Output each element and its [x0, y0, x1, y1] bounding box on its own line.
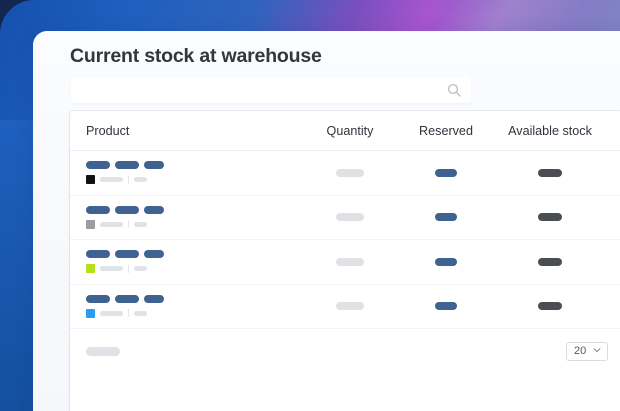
reserved-cell	[398, 169, 494, 177]
skeleton-pill	[435, 302, 457, 310]
skeleton-bar	[134, 266, 147, 271]
skeleton-pill	[115, 206, 139, 214]
skeleton-pill	[538, 169, 562, 177]
table-header-row: Product Quantity Reserved Available stoc…	[70, 111, 620, 151]
column-header-reserved[interactable]: Reserved	[398, 124, 494, 138]
page-size-select[interactable]: 20	[566, 342, 608, 361]
product-meta-skeleton	[86, 220, 302, 229]
skeleton-bar	[100, 311, 123, 316]
screenshot-root: Current stock at warehouse Product Quant…	[0, 0, 620, 411]
skeleton-pill	[336, 169, 364, 177]
column-header-product[interactable]: Product	[86, 124, 302, 138]
skeleton-pill	[86, 206, 110, 214]
skeleton-bar	[134, 311, 147, 316]
skeleton-pill	[86, 161, 110, 169]
skeleton-pill	[86, 250, 110, 258]
skeleton-bar	[134, 222, 147, 227]
skeleton-pill	[435, 258, 457, 266]
table-footer: 20	[70, 329, 620, 373]
chevron-down-icon[interactable]	[592, 342, 602, 360]
skeleton-bar	[100, 222, 123, 227]
skeleton-bar	[134, 177, 147, 182]
skeleton-pill	[115, 295, 139, 303]
skeleton-pill	[336, 302, 364, 310]
available-stock-cell	[494, 213, 606, 221]
meta-divider	[128, 176, 129, 184]
table-row[interactable]	[70, 196, 620, 241]
product-meta-skeleton	[86, 264, 302, 273]
column-header-available-stock[interactable]: Available stock	[494, 124, 606, 138]
quantity-cell	[302, 213, 398, 221]
skeleton-pill	[435, 169, 457, 177]
available-stock-cell	[494, 169, 606, 177]
skeleton-pill	[144, 250, 164, 258]
pagination-summary-skeleton	[86, 347, 120, 356]
page-size-value: 20	[574, 346, 586, 357]
product-name-skeleton	[86, 161, 302, 169]
search-bar[interactable]	[71, 77, 471, 103]
product-cell	[86, 206, 302, 229]
table-row[interactable]	[70, 151, 620, 196]
page-title: Current stock at warehouse	[70, 45, 322, 68]
quantity-cell	[302, 302, 398, 310]
reserved-cell	[398, 258, 494, 266]
skeleton-pill	[336, 213, 364, 221]
product-cell	[86, 295, 302, 318]
color-swatch	[86, 309, 95, 318]
meta-divider	[128, 265, 129, 273]
skeleton-pill	[538, 302, 562, 310]
search-input[interactable]	[71, 77, 471, 103]
product-cell	[86, 250, 302, 273]
product-meta-skeleton	[86, 309, 302, 318]
skeleton-pill	[538, 213, 562, 221]
available-stock-cell	[494, 302, 606, 310]
product-name-skeleton	[86, 250, 302, 258]
skeleton-pill	[86, 295, 110, 303]
stock-table: Product Quantity Reserved Available stoc…	[70, 111, 620, 411]
meta-divider	[128, 309, 129, 317]
product-name-skeleton	[86, 295, 302, 303]
product-meta-skeleton	[86, 175, 302, 184]
meta-divider	[128, 220, 129, 228]
skeleton-pill	[435, 213, 457, 221]
skeleton-bar	[100, 177, 123, 182]
skeleton-bar	[100, 266, 123, 271]
table-row[interactable]	[70, 240, 620, 285]
color-swatch	[86, 220, 95, 229]
product-name-skeleton	[86, 206, 302, 214]
skeleton-pill	[144, 295, 164, 303]
skeleton-pill	[144, 206, 164, 214]
color-swatch	[86, 264, 95, 273]
app-card: Current stock at warehouse Product Quant…	[33, 31, 620, 411]
skeleton-pill	[336, 258, 364, 266]
reserved-cell	[398, 302, 494, 310]
quantity-cell	[302, 258, 398, 266]
available-stock-cell	[494, 258, 606, 266]
quantity-cell	[302, 169, 398, 177]
color-swatch	[86, 175, 95, 184]
skeleton-pill	[115, 161, 139, 169]
skeleton-pill	[144, 161, 164, 169]
skeleton-pill	[538, 258, 562, 266]
reserved-cell	[398, 213, 494, 221]
search-icon[interactable]	[446, 82, 462, 98]
skeleton-pill	[115, 250, 139, 258]
table-row[interactable]	[70, 285, 620, 330]
column-header-quantity[interactable]: Quantity	[302, 124, 398, 138]
product-cell	[86, 161, 302, 184]
